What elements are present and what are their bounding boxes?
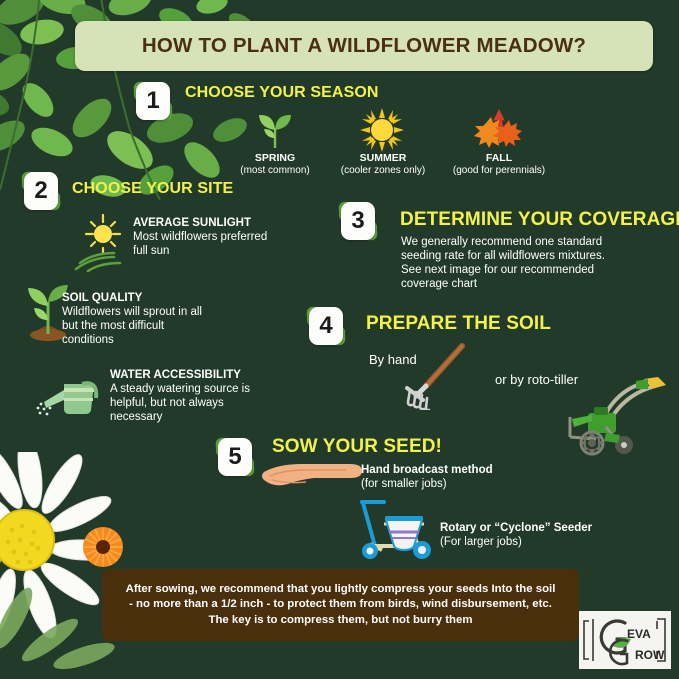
site-item-line: helpful, but not always: [110, 397, 224, 409]
step-1-heading: CHOOSE YOUR SEASON: [185, 84, 379, 102]
step-badge-2: 2: [18, 168, 64, 214]
site-item-title: AVERAGE SUNLIGHT: [133, 216, 343, 230]
footer-note-text: After sowing, we recommend that you ligh…: [112, 582, 570, 627]
logo-text-eva: EVA: [627, 627, 651, 641]
footer-note-line: After sowing, we recommend that you ligh…: [126, 583, 556, 595]
footer-note-banner: After sowing, we recommend that you ligh…: [102, 569, 579, 641]
sow-method-seeder: Rotary or “Cyclone” Seeder (For larger j…: [440, 521, 670, 549]
rake-icon: [400, 340, 470, 410]
footer-note-line: - no more than a 1/2 inch - to protect t…: [129, 598, 552, 610]
site-item-line: A steady watering source is: [110, 383, 250, 395]
step-2-heading: CHOOSE YOUR SITE: [72, 180, 233, 198]
sun-icon: [360, 108, 404, 152]
page-title: HOW TO PLANT A WILDFLOWER MEADOW?: [142, 34, 586, 58]
infographic-canvas: HOW TO PLANT A WILDFLOWER MEADOW? 1 CHOO…: [0, 0, 679, 679]
site-item-line: but the most difficult: [62, 320, 164, 332]
step-badge-3: 3: [335, 198, 381, 244]
site-item-title: WATER ACCESSIBILITY: [110, 368, 340, 382]
step-3-heading: DETERMINE YOUR COVERAGE: [400, 209, 679, 231]
step-number: 2: [34, 179, 47, 203]
coverage-line: coverage chart: [401, 278, 477, 290]
roto-tiller-icon: [548, 365, 672, 460]
sun-over-field-icon: [74, 213, 132, 273]
badge-square: 2: [24, 172, 58, 210]
season-caption-fall: FALL (good for perennials): [443, 152, 555, 177]
step-number: 4: [319, 314, 332, 338]
season-note-spring: (most common): [240, 165, 309, 176]
season-note-fall: (good for perennials): [453, 165, 545, 176]
step-badge-4: 4: [303, 303, 349, 349]
site-item-title: SOIL QUALITY: [62, 291, 292, 305]
site-item-line: Most wildflowers preferred: [133, 231, 267, 243]
step-badge-1: 1: [130, 78, 176, 124]
sow-method-note: (for smaller jobs): [361, 478, 447, 490]
coverage-line: seeding rate for all wildflowers mixture…: [401, 250, 605, 262]
sow-method-title: Hand broadcast method: [361, 463, 561, 477]
step-4-heading: PREPARE THE SOIL: [366, 313, 551, 335]
season-caption-summer: SUMMER (cooler zones only): [333, 152, 433, 177]
season-name-summer: SUMMER: [333, 152, 433, 165]
sow-method-hand: Hand broadcast method (for smaller jobs): [361, 463, 561, 491]
badge-square: 5: [218, 438, 252, 476]
step-3-body: We generally recommend one standard seed…: [401, 235, 663, 291]
sow-method-title: Rotary or “Cyclone” Seeder: [440, 521, 670, 535]
watering-can-icon: [36, 370, 104, 418]
step-5-heading: SOW YOUR SEED!: [272, 436, 442, 458]
coverage-line: We generally recommend one standard: [401, 236, 602, 248]
site-item-line: conditions: [62, 334, 114, 346]
brand-logo: EVA ROW: [579, 611, 671, 669]
logo-text-row: ROW: [635, 648, 665, 662]
step-number: 1: [146, 89, 159, 113]
badge-square: 1: [136, 82, 170, 120]
rotary-seeder-icon: [348, 494, 446, 560]
sow-method-note: (For larger jobs): [440, 536, 522, 548]
site-item-soil: SOIL QUALITY Wildflowers will sprout in …: [62, 291, 292, 347]
step-badge-5: 5: [212, 434, 258, 480]
page-title-banner: HOW TO PLANT A WILDFLOWER MEADOW?: [75, 21, 653, 71]
autumn-leaves-icon: [472, 107, 522, 152]
footer-note-line: The key is to compress them, but not bur…: [209, 614, 473, 626]
site-item-sunlight: AVERAGE SUNLIGHT Most wildflowers prefer…: [133, 216, 343, 258]
badge-square: 4: [309, 307, 343, 345]
site-item-line: necessary: [110, 411, 162, 423]
badge-square: 3: [341, 202, 375, 240]
coverage-line: See next image for our recommended: [401, 264, 594, 276]
season-name-spring: SPRING: [230, 152, 320, 165]
step-number: 3: [351, 209, 364, 233]
sprout-icon: [254, 110, 296, 150]
site-item-line: full sun: [133, 245, 169, 257]
step-number: 5: [228, 445, 241, 469]
season-note-summer: (cooler zones only): [341, 165, 425, 176]
season-name-fall: FALL: [443, 152, 555, 165]
marigold-flower-decoration: [81, 525, 125, 569]
site-item-line: Wildflowers will sprout in all: [62, 306, 202, 318]
site-item-water: WATER ACCESSIBILITY A steady watering so…: [110, 368, 340, 424]
season-caption-spring: SPRING (most common): [230, 152, 320, 177]
